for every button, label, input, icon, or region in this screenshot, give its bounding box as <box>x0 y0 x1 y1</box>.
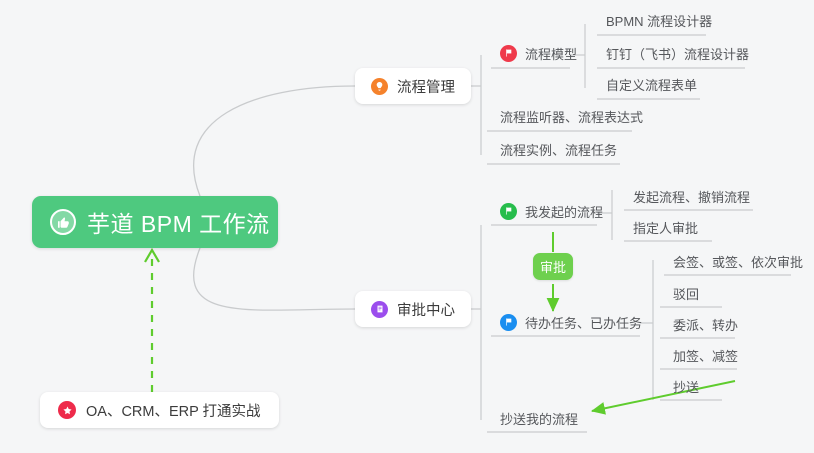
link-root-to-branch-1 <box>194 86 355 196</box>
leaf-node-dingtalk-designer[interactable]: 钉钉（飞书）流程设计器 <box>597 38 759 68</box>
leaf-label: 流程监听器、流程表达式 <box>500 107 643 126</box>
leaf-node-listener-expression[interactable]: 流程监听器、流程表达式 <box>491 101 653 131</box>
leaf-label: 抄送我的流程 <box>500 409 578 428</box>
leaf-node-bpmn-designer[interactable]: BPMN 流程设计器 <box>597 5 722 35</box>
leaf-label: 流程实例、流程任务 <box>500 140 617 159</box>
flag-icon <box>500 45 517 62</box>
root-label: 芋道 BPM 工作流 <box>87 205 270 239</box>
branch-node-shenpi-zhongxin[interactable]: 审批中心 <box>355 291 471 327</box>
branch-label: 流程管理 <box>397 76 455 97</box>
flag-icon <box>500 314 517 331</box>
approval-badge: 审批 <box>533 253 573 280</box>
lightbulb-icon <box>371 78 388 95</box>
approval-badge-label: 审批 <box>540 257 566 276</box>
branch-node-liucheng-guanli[interactable]: 流程管理 <box>355 68 471 104</box>
leaf-node-huiqian-huoqian[interactable]: 会签、或签、依次审批 <box>664 246 813 276</box>
leaf-label: 我发起的流程 <box>525 202 603 221</box>
bottom-note-label: OA、CRM、ERP 打通实战 <box>86 400 261 421</box>
leaf-label: 会签、或签、依次审批 <box>673 252 803 271</box>
leaf-label: 钉钉（飞书）流程设计器 <box>606 44 749 63</box>
leaf-label: 待办任务、已办任务 <box>525 313 642 332</box>
leaf-label: 流程模型 <box>525 44 577 63</box>
leaf-node-weipai-zhuanban[interactable]: 委派、转办 <box>664 309 748 339</box>
leaf-node-instance-task[interactable]: 流程实例、流程任务 <box>491 134 627 164</box>
leaf-label: 抄送 <box>673 377 699 396</box>
leaf-node-liucheng-moxing[interactable]: 流程模型 <box>491 38 587 68</box>
document-icon <box>371 301 388 318</box>
leaf-node-chaosong[interactable]: 抄送 <box>664 371 709 401</box>
branch-label: 审批中心 <box>397 299 455 320</box>
leaf-label: BPMN 流程设计器 <box>606 11 712 30</box>
leaf-label: 驳回 <box>673 284 699 303</box>
leaf-node-custom-form[interactable]: 自定义流程表单 <box>597 69 707 99</box>
leaf-node-faqi-chexiao[interactable]: 发起流程、撤销流程 <box>624 181 760 211</box>
leaf-label: 发起流程、撤销流程 <box>633 187 750 206</box>
leaf-label: 指定人审批 <box>633 218 698 237</box>
thumbs-up-icon <box>50 209 76 235</box>
leaf-node-chaosong-wode-liucheng[interactable]: 抄送我的流程 <box>491 403 588 433</box>
star-icon <box>58 401 76 419</box>
leaf-node-daiban-yiban-renwu[interactable]: 待办任务、已办任务 <box>491 307 652 337</box>
leaf-node-jiaqian-jianqian[interactable]: 加签、减签 <box>664 340 748 370</box>
bottom-note-node[interactable]: OA、CRM、ERP 打通实战 <box>40 392 279 428</box>
leaf-label: 加签、减签 <box>673 346 738 365</box>
root-node[interactable]: 芋道 BPM 工作流 <box>32 196 278 248</box>
flag-icon <box>500 203 517 220</box>
mindmap-canvas: 芋道 BPM 工作流 流程管理 流程模型 BPMN 流程设计器 钉钉（飞书）流程… <box>0 0 814 453</box>
arrowhead-bottomnote <box>145 250 159 262</box>
link-root-to-branch-2 <box>194 248 355 310</box>
leaf-label: 委派、转办 <box>673 315 738 334</box>
leaf-node-zhidingren-shenpi[interactable]: 指定人审批 <box>624 212 708 242</box>
leaf-node-wo-faqi-de-liucheng[interactable]: 我发起的流程 <box>491 196 613 226</box>
leaf-label: 自定义流程表单 <box>606 75 697 94</box>
leaf-node-bohui[interactable]: 驳回 <box>664 278 709 308</box>
